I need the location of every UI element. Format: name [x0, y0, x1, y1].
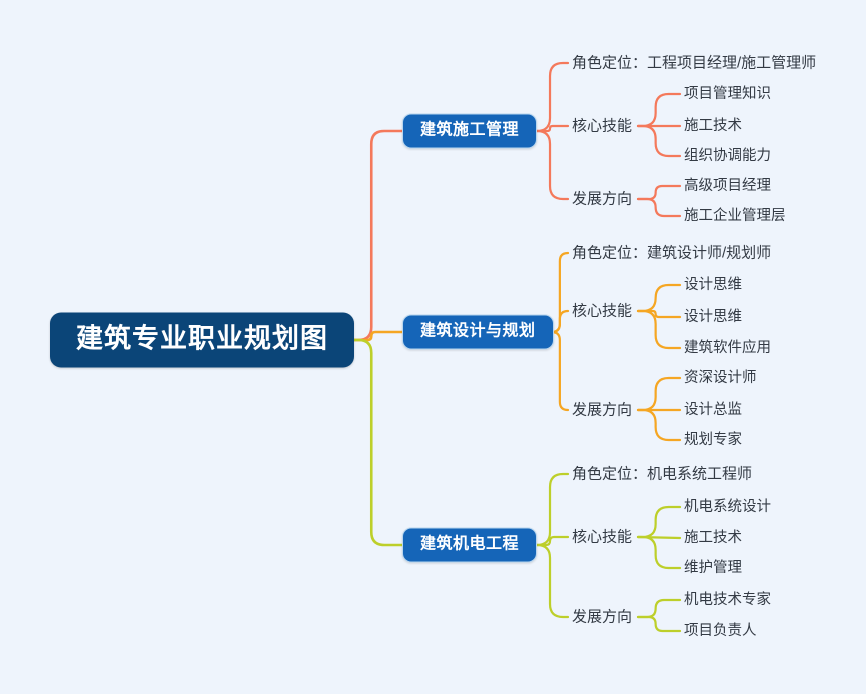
- category-node-3-3[interactable]: 发展方向: [572, 608, 632, 627]
- leaf-node-2-2-2[interactable]: 设计思维: [684, 308, 742, 327]
- link-3-2-to-leaf-1: [638, 507, 680, 537]
- leaf-node-2-3-2[interactable]: 设计总监: [684, 401, 742, 420]
- leaf-node-2-2-3[interactable]: 建筑软件应用: [684, 339, 771, 358]
- link-1-2-to-leaf-3: [638, 126, 680, 156]
- leaf-node-1-2-1[interactable]: 项目管理知识: [684, 85, 771, 104]
- category-node-1-3[interactable]: 发展方向: [572, 190, 632, 209]
- link-root-to-branch-1: [349, 131, 402, 340]
- link-branch-1-to-3: [537, 131, 568, 199]
- link-3-3-to-leaf-1: [638, 600, 680, 617]
- branch-node-3[interactable]: 建筑机电工程: [402, 528, 537, 563]
- leaf-node-1-2-3[interactable]: 组织协调能力: [684, 147, 771, 166]
- link-branch-3-to-1: [537, 474, 568, 545]
- link-2-2-to-leaf-3: [638, 311, 680, 348]
- leaf-node-1-3-1[interactable]: 高级项目经理: [684, 177, 771, 196]
- branch-node-2[interactable]: 建筑设计与规划: [402, 315, 554, 350]
- link-1-3-to-leaf-1: [638, 186, 680, 199]
- link-branch-2-to-3: [552, 332, 568, 410]
- link-branch-3-to-3: [537, 545, 568, 617]
- branch-node-1[interactable]: 建筑施工管理: [402, 114, 537, 149]
- category-node-2-3[interactable]: 发展方向: [572, 401, 632, 420]
- link-3-3-to-leaf-2: [638, 617, 680, 631]
- link-root-to-branch-3: [349, 340, 402, 545]
- leaf-node-2-2-1[interactable]: 设计思维: [684, 276, 742, 295]
- leaf-node-3-2-3[interactable]: 维护管理: [684, 559, 742, 578]
- link-1-3-to-leaf-2: [638, 199, 680, 216]
- link-3-2-to-leaf-3: [638, 537, 680, 568]
- link-2-2-to-leaf-1: [638, 285, 680, 311]
- role-node-2[interactable]: 角色定位：建筑设计师/规划师: [572, 244, 771, 263]
- leaf-node-3-2-1[interactable]: 机电系统设计: [684, 498, 771, 517]
- leaf-node-3-3-2[interactable]: 项目负责人: [684, 622, 757, 641]
- leaf-node-2-3-3[interactable]: 规划专家: [684, 431, 742, 450]
- leaf-node-3-3-1[interactable]: 机电技术专家: [684, 591, 771, 610]
- role-node-1[interactable]: 角色定位：工程项目经理/施工管理师: [572, 54, 816, 73]
- link-2-3-to-leaf-1: [638, 378, 680, 410]
- leaf-node-1-2-2[interactable]: 施工技术: [684, 117, 742, 136]
- leaf-node-1-3-2[interactable]: 施工企业管理层: [684, 207, 786, 226]
- mindmap-canvas: 建筑专业职业规划图建筑施工管理角色定位：工程项目经理/施工管理师核心技能项目管理…: [0, 0, 866, 694]
- category-node-3-2[interactable]: 核心技能: [572, 528, 632, 547]
- role-node-3[interactable]: 角色定位：机电系统工程师: [572, 465, 752, 484]
- link-branch-3-to-2: [537, 537, 568, 545]
- leaf-node-2-3-1[interactable]: 资深设计师: [684, 369, 757, 388]
- link-2-3-to-leaf-3: [638, 410, 680, 440]
- link-branch-2-to-1: [552, 253, 568, 332]
- category-node-1-2[interactable]: 核心技能: [572, 117, 632, 136]
- link-root-to-branch-2: [349, 332, 402, 340]
- link-branch-1-to-1: [537, 63, 568, 131]
- link-branch-2-to-2: [552, 311, 568, 332]
- leaf-node-3-2-2[interactable]: 施工技术: [684, 529, 742, 548]
- link-2-2-to-leaf-2: [638, 311, 680, 317]
- root-node[interactable]: 建筑专业职业规划图: [50, 313, 354, 368]
- link-branch-1-to-2: [537, 126, 568, 131]
- link-1-2-to-leaf-1: [638, 94, 680, 126]
- link-3-2-to-leaf-2: [638, 537, 680, 538]
- category-node-2-2[interactable]: 核心技能: [572, 302, 632, 321]
